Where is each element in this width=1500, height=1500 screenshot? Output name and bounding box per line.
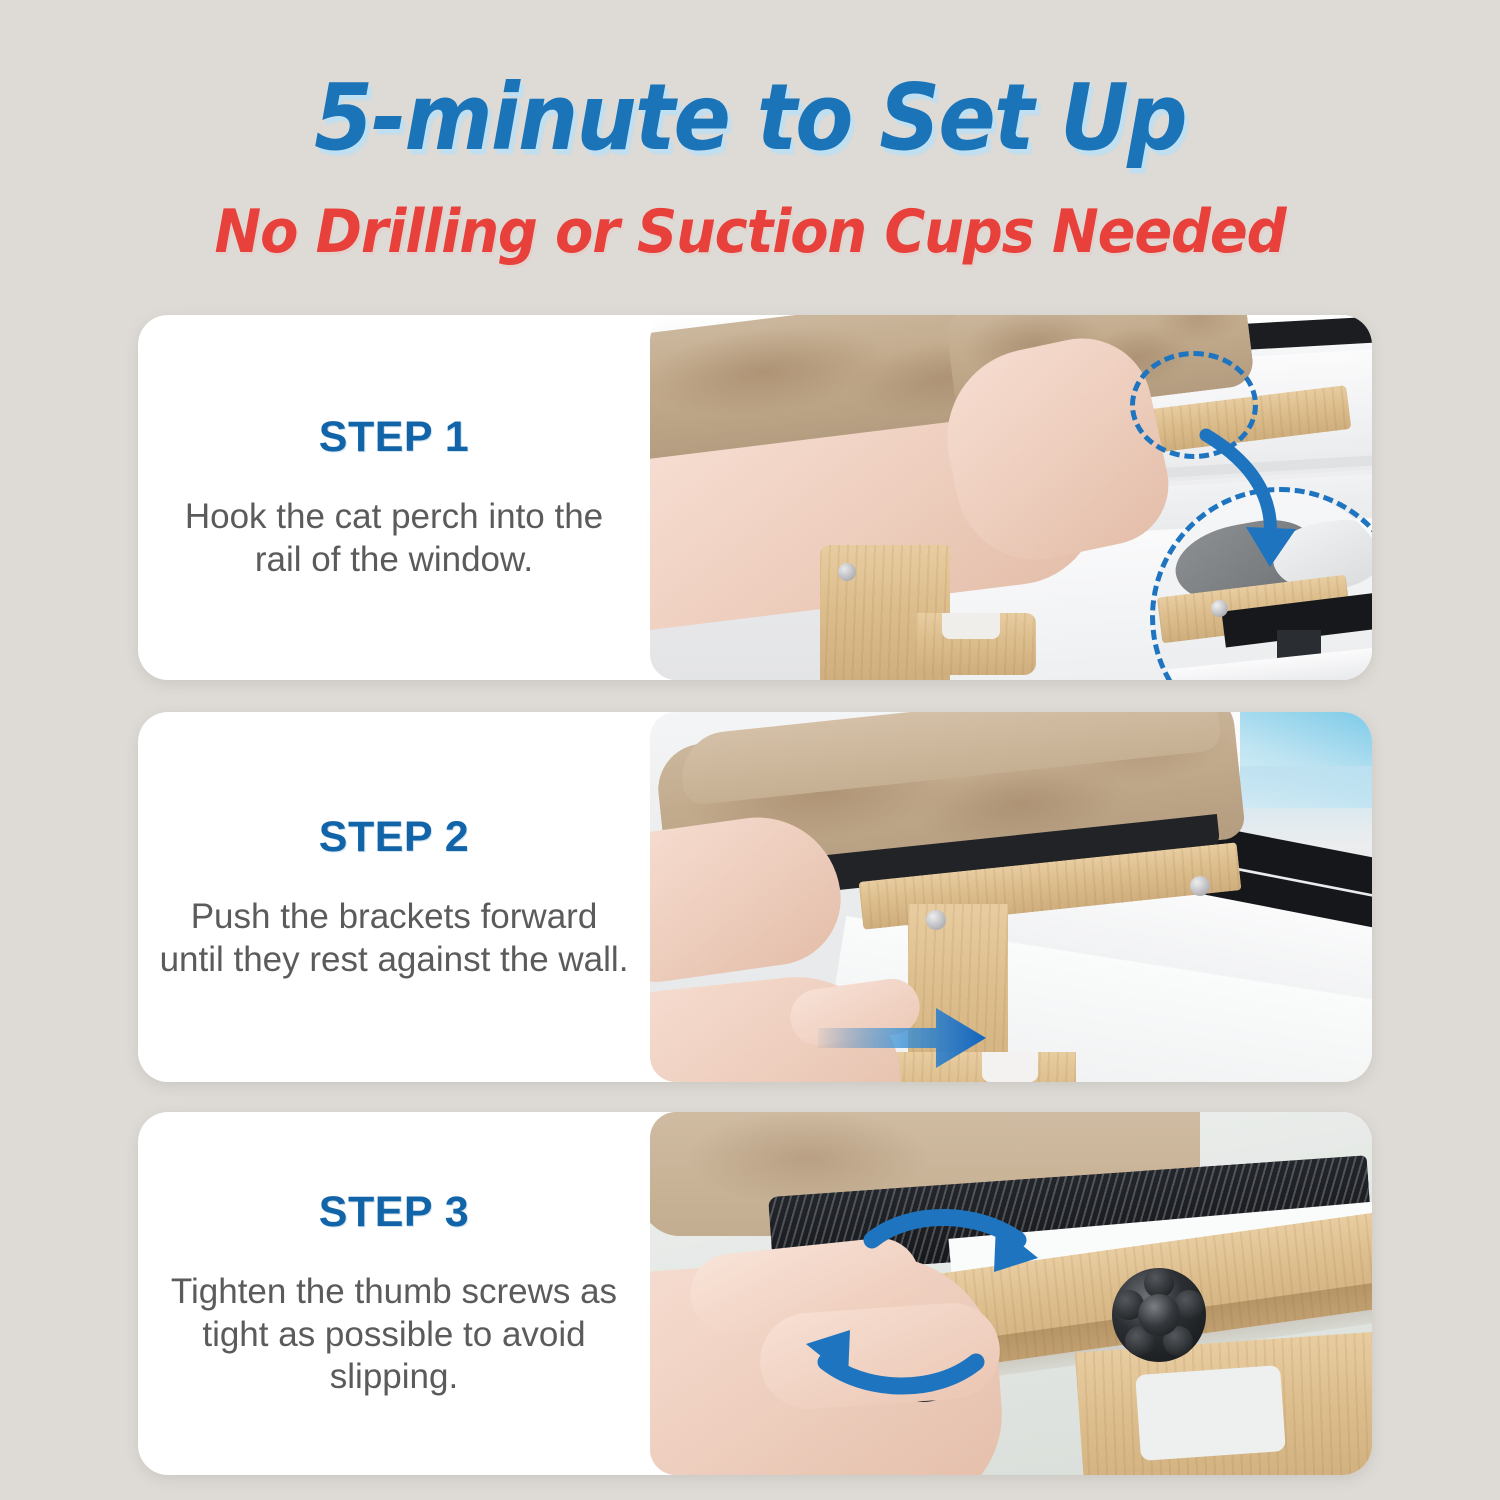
wooden-bracket bbox=[886, 904, 1106, 1082]
step-1-text-block: STEP 1 Hook the cat perch into the rail … bbox=[138, 315, 650, 680]
screw-icon bbox=[1190, 876, 1210, 896]
step-2-photo bbox=[650, 712, 1372, 1082]
step-card-1: STEP 1 Hook the cat perch into the rail … bbox=[138, 315, 1372, 680]
step-1-body: Hook the cat perch into the rail of the … bbox=[159, 496, 629, 581]
step-1-title: STEP 1 bbox=[319, 413, 469, 462]
dashed-circle-highlight-icon bbox=[1130, 351, 1258, 459]
infographic-page: 5-minute to Set Up No Drilling or Suctio… bbox=[0, 0, 1500, 1500]
page-title: 5-minute to Set Up bbox=[60, 72, 1440, 164]
screw-icon bbox=[838, 563, 856, 581]
header-block: 5-minute to Set Up No Drilling or Suctio… bbox=[0, 72, 1500, 262]
step-card-3: STEP 3 Tighten the thumb screws as tight… bbox=[138, 1112, 1372, 1475]
step-2-body: Push the brackets forward until they res… bbox=[159, 896, 629, 981]
step-3-photo bbox=[650, 1112, 1372, 1475]
page-subtitle: No Drilling or Suction Cups Needed bbox=[53, 202, 1448, 262]
step-card-2: STEP 2 Push the brackets forward until t… bbox=[138, 712, 1372, 1082]
step-3-body: Tighten the thumb screws as tight as pos… bbox=[159, 1271, 629, 1399]
step-2-title: STEP 2 bbox=[319, 813, 469, 862]
step-2-text-block: STEP 2 Push the brackets forward until t… bbox=[138, 712, 650, 1082]
step-3-text-block: STEP 3 Tighten the thumb screws as tight… bbox=[138, 1112, 650, 1475]
thumb-screw-right bbox=[1112, 1268, 1206, 1362]
step-3-title: STEP 3 bbox=[319, 1188, 469, 1237]
screw-icon bbox=[926, 910, 946, 930]
wooden-bracket bbox=[820, 545, 1030, 680]
step-1-photo bbox=[650, 315, 1372, 680]
